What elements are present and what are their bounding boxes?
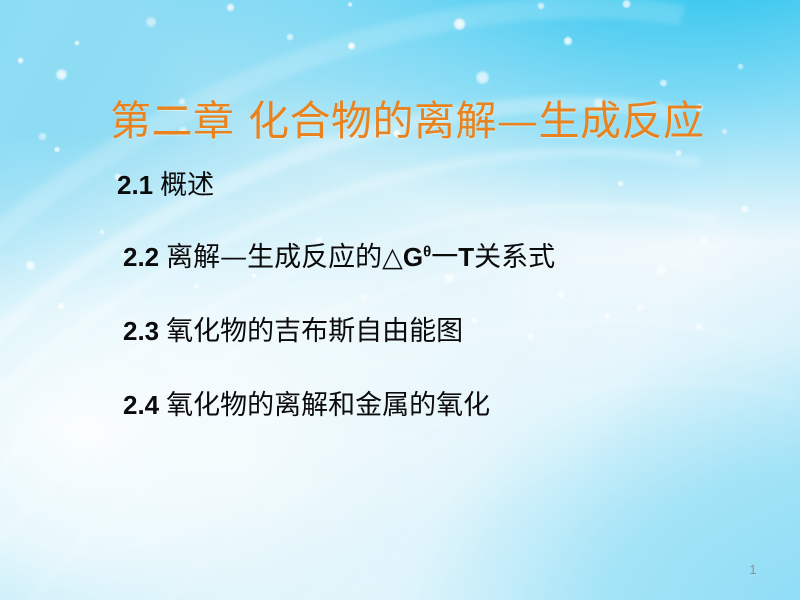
bokeh-dot [721, 128, 728, 135]
outline-item-label-part1: 离解—生成反应的△ [166, 242, 403, 273]
bokeh-dot [25, 260, 36, 271]
bokeh-dot [347, 2, 353, 8]
outline-item-label-part2: 关系式 [474, 242, 555, 273]
bokeh-dot [475, 70, 490, 85]
bokeh-dot [741, 205, 749, 213]
symbol-temperature: T [458, 242, 474, 272]
background-swirl-arc [0, 0, 800, 600]
bokeh-dot [38, 132, 47, 141]
outline-item-number: 2.3 [123, 316, 159, 346]
bokeh-dot [55, 68, 68, 81]
bokeh-dot [659, 79, 668, 88]
background-swirl-arc [0, 260, 800, 600]
slide-background-gradient [0, 0, 800, 600]
outline-item-label: 氧化物的离解和金属的氧化 [166, 390, 490, 421]
bokeh-dot [57, 302, 66, 311]
bokeh-dot [695, 322, 704, 331]
bokeh-dot [286, 33, 294, 41]
bokeh-dot [636, 302, 646, 312]
slide-background-bottomright-accent [0, 0, 800, 600]
bokeh-dot [655, 264, 667, 276]
slide-background-center-glow [0, 0, 800, 600]
bokeh-dot [17, 57, 24, 64]
bokeh-dot [359, 293, 369, 303]
bokeh-dot [617, 180, 624, 187]
bokeh-dot [54, 146, 61, 153]
page-number: 1 [742, 562, 764, 577]
bokeh-dot [145, 16, 156, 27]
outline-item-number: 2.4 [123, 390, 159, 420]
bokeh-dot [471, 317, 478, 324]
outline-item-2-2: 2.2离解—生成反应的△Gθ一T关系式 [123, 243, 555, 273]
outline-item-label: 氧化物的吉布斯自由能图 [166, 316, 463, 347]
slide-background-topright-accent [0, 0, 800, 600]
background-swirl-arc [0, 0, 800, 600]
bokeh-dot [622, 0, 632, 9]
outline-item-2-1: 2.1概述 [117, 171, 214, 201]
outline-item-label: 概述 [160, 170, 214, 201]
bokeh-dot [193, 282, 201, 290]
bokeh-dot [251, 273, 257, 279]
bokeh-dot [453, 17, 466, 30]
bokeh-dot [563, 36, 573, 46]
bokeh-dot [526, 332, 536, 342]
bokeh-dot [557, 291, 566, 300]
bokeh-dot [99, 229, 106, 236]
symbol-dash: 一 [431, 242, 458, 273]
slide-title: 第二章 化合物的离解—生成反应 [110, 97, 705, 145]
bokeh-dot [700, 236, 709, 245]
bokeh-dot [537, 2, 546, 11]
symbol-gibbs-free-energy: G [403, 242, 423, 272]
outline-item-number: 2.2 [123, 242, 159, 272]
outline-item-2-4: 2.4氧化物的离解和金属的氧化 [123, 391, 490, 421]
bokeh-dot [737, 63, 745, 71]
bokeh-dot [675, 149, 683, 157]
slide-background-left-glow [0, 0, 800, 600]
bokeh-dot [226, 3, 235, 12]
background-swirl-arc [0, 0, 800, 600]
bokeh-dot [603, 312, 611, 320]
outline-item-2-3: 2.3氧化物的吉布斯自由能图 [123, 317, 463, 347]
bokeh-dot [74, 40, 81, 47]
outline-item-number: 2.1 [117, 170, 153, 200]
bokeh-dot [443, 272, 454, 283]
presentation-slide: 第二章 化合物的离解—生成反应 2.1概述 2.2离解—生成反应的△Gθ一T关系… [0, 0, 800, 600]
bokeh-dot [347, 42, 356, 51]
